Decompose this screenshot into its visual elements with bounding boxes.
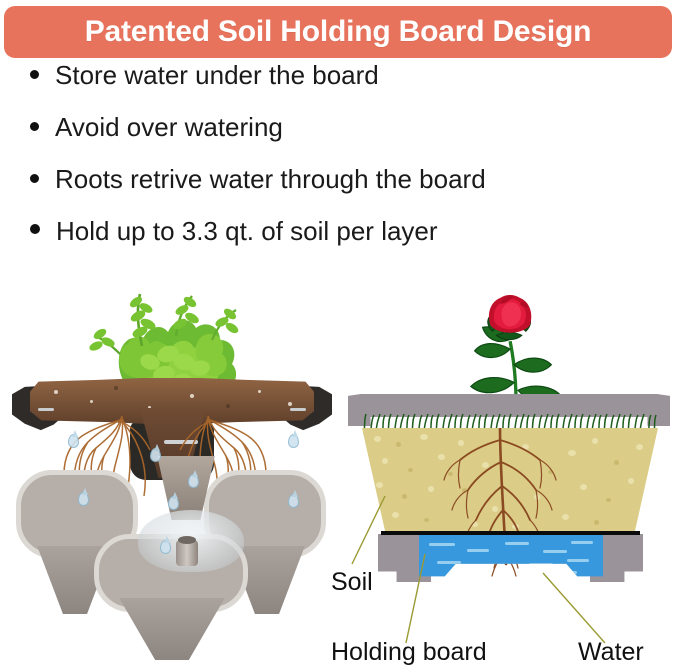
water-drop-icon: [288, 434, 299, 448]
water-drop-icon: [288, 494, 299, 508]
rose-plant-icon: [452, 292, 582, 408]
callout-holding-board: Holding board: [331, 640, 487, 665]
feature-list: Store water under the board Avoid over w…: [0, 62, 679, 270]
list-item: Roots retrive water through the board: [0, 166, 679, 218]
list-item-label: Hold up to 3.3 qt. of soil per layer: [56, 218, 438, 244]
page-root: Patented Soil Holding Board Design Store…: [0, 0, 679, 669]
stacked-planter-photo: [2, 268, 340, 669]
water-drop-icon: [68, 434, 79, 448]
bullet-dot-icon: [30, 224, 40, 234]
callout-water: Water: [578, 640, 644, 665]
drain-spout: [176, 540, 198, 566]
stacked-pots: [16, 448, 326, 663]
water-drop-icon: [188, 474, 199, 488]
page-title: Patented Soil Holding Board Design: [85, 15, 592, 49]
bullet-dot-icon: [30, 70, 39, 79]
list-item: Avoid over watering: [0, 114, 679, 166]
header-banner: Patented Soil Holding Board Design: [4, 6, 672, 58]
list-item-label: Store water under the board: [55, 62, 379, 88]
list-item: Store water under the board: [0, 62, 679, 114]
pot-cross-section-diagram: [340, 268, 679, 669]
list-item-label: Roots retrive water through the board: [55, 166, 486, 192]
water-drop-icon: [78, 492, 89, 506]
holding-board-line: [381, 531, 640, 535]
bullet-dot-icon: [30, 174, 39, 183]
callout-soil: Soil: [331, 570, 373, 595]
water-drop-icon: [150, 448, 161, 462]
water-drop-icon: [160, 540, 171, 554]
illustration-area: [0, 268, 679, 669]
list-item-label: Avoid over watering: [55, 114, 283, 140]
bullet-dot-icon: [30, 122, 39, 131]
pot-cone-front: [112, 598, 232, 660]
water-drop-icon: [168, 496, 179, 510]
list-item: Hold up to 3.3 qt. of soil per layer: [0, 218, 679, 270]
